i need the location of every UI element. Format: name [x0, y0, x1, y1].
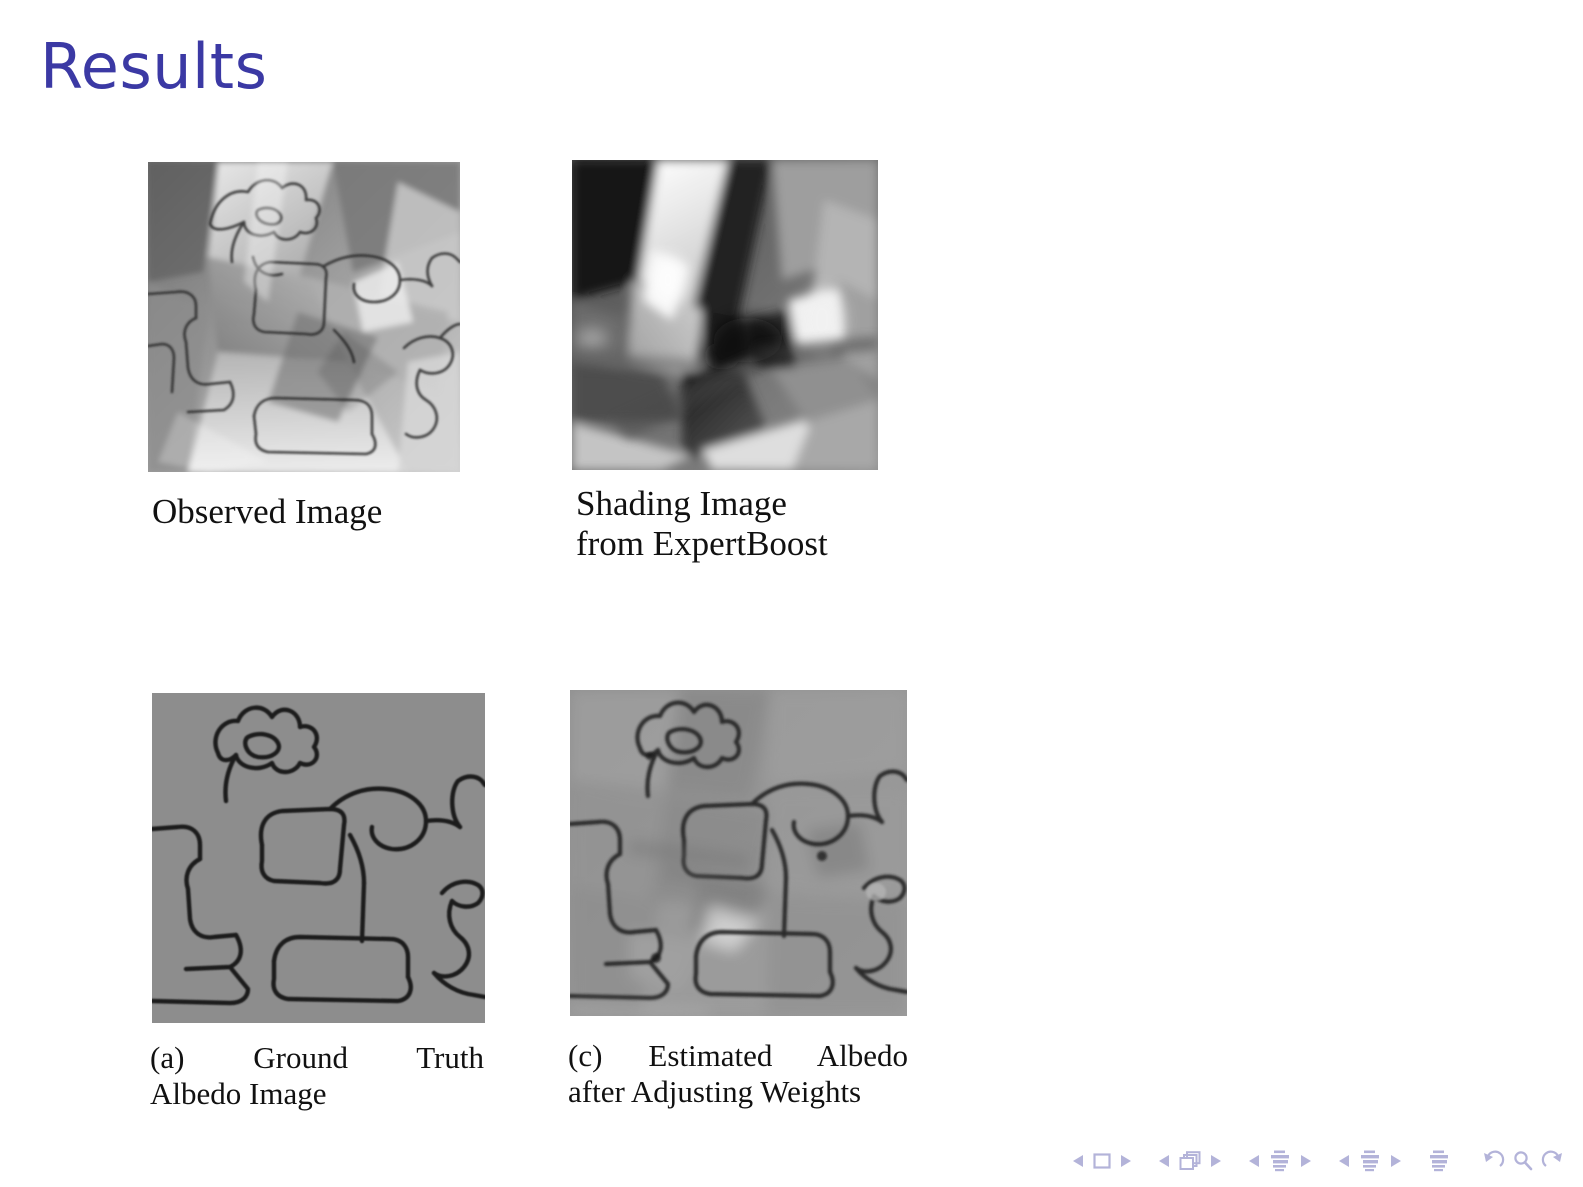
subsection-navigation-group[interactable] [1247, 1149, 1313, 1173]
caption-line: Shading Image [576, 484, 936, 524]
section-navigation-group[interactable] [1337, 1149, 1403, 1173]
search-icon[interactable] [1512, 1150, 1534, 1172]
next-subsection-icon[interactable] [1299, 1153, 1313, 1169]
observed-image-graphic [148, 162, 460, 472]
next-slide-icon[interactable] [1119, 1153, 1133, 1169]
document-lines-icon[interactable] [1427, 1149, 1451, 1173]
ground-truth-albedo-graphic [152, 693, 485, 1023]
previous-slide-icon[interactable] [1071, 1153, 1085, 1169]
page-title: Results [40, 36, 267, 98]
next-frame-icon[interactable] [1209, 1153, 1223, 1169]
figure-ground-truth-albedo [152, 693, 485, 1023]
caption-ground-truth-albedo: (a) Ground Truth Albedo Image [150, 1040, 484, 1111]
beamer-navigation-bar[interactable] [1071, 1149, 1565, 1173]
caption-line: after Adjusting Weights [568, 1074, 908, 1110]
caption-line: (a) Ground Truth [150, 1040, 484, 1076]
frame-navigation-group[interactable] [1157, 1150, 1223, 1172]
figure-estimated-albedo [570, 690, 907, 1016]
document-lines-icon[interactable] [1268, 1149, 1292, 1173]
history-navigation-group[interactable] [1481, 1150, 1565, 1172]
presentation-icon-group[interactable] [1427, 1149, 1451, 1173]
caption-line: Albedo Image [150, 1076, 484, 1112]
caption-shading-image: Shading Image from ExpertBoost [576, 484, 936, 565]
document-lines-icon[interactable] [1358, 1149, 1382, 1173]
slide-navigation-group[interactable] [1071, 1152, 1133, 1170]
previous-subsection-icon[interactable] [1247, 1153, 1261, 1169]
shading-image-graphic [572, 160, 878, 470]
previous-frame-icon[interactable] [1157, 1153, 1171, 1169]
figure-shading-image [572, 160, 878, 470]
stacked-frames-icon[interactable] [1178, 1150, 1202, 1172]
caption-estimated-albedo: (c) Estimated Albedo after Adjusting Wei… [568, 1038, 908, 1109]
caption-line: (c) Estimated Albedo [568, 1038, 908, 1074]
caption-line: from ExpertBoost [576, 524, 936, 564]
back-arrow-icon[interactable] [1481, 1150, 1505, 1172]
estimated-albedo-graphic [570, 690, 907, 1016]
forward-arrow-icon[interactable] [1541, 1150, 1565, 1172]
next-section-icon[interactable] [1389, 1153, 1403, 1169]
previous-section-icon[interactable] [1337, 1153, 1351, 1169]
caption-line: Observed Image [152, 492, 472, 532]
figure-observed-image [148, 162, 460, 472]
caption-observed-image: Observed Image [152, 492, 472, 532]
single-frame-icon[interactable] [1092, 1152, 1112, 1170]
